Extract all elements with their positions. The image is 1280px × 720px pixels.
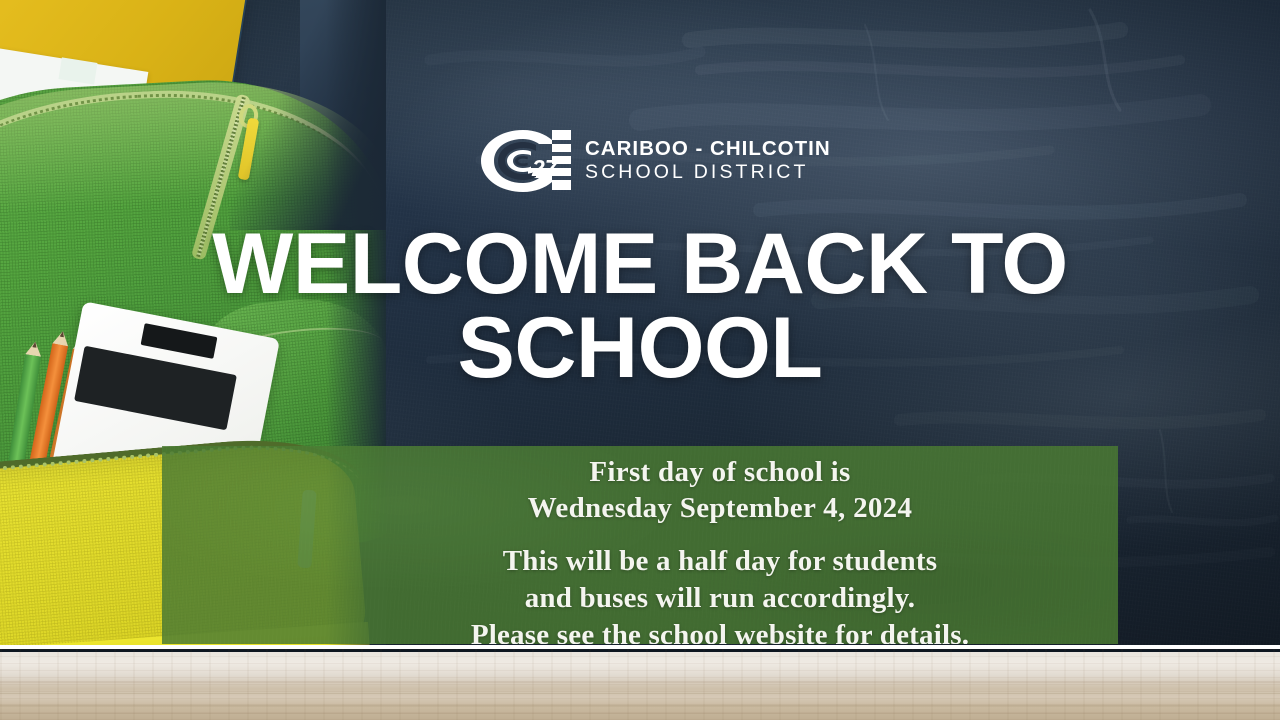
logo-line-cariboo-chilcotin: CARIBOO - CHILCOTIN [585,138,831,160]
first-day-announcement: First day of school is Wednesday Septemb… [528,454,913,527]
wood-streak [0,713,1280,714]
page-title: WELCOME BACK TO SCHOOL [0,222,1280,391]
announcement-text-block: First day of school is Wednesday Septemb… [322,446,1118,644]
wood-grain [0,649,1280,720]
svg-text:27: 27 [531,155,559,181]
headline-line-2: SCHOOL [0,306,1280,390]
first-day-line-1: First day of school is [528,454,913,490]
wood-streak [0,681,1280,683]
note-line-3: Please see the school website for detail… [471,617,969,644]
school-district-logo: 27 CARIBOO - CHILCOTIN SCHOOL DISTRICT [479,128,831,194]
note-line-1: This will be a half day for students [471,543,969,580]
logo-line-school-district: SCHOOL DISTRICT [585,161,831,184]
wood-streak [0,693,1280,694]
first-day-line-2: Wednesday September 4, 2024 [528,490,913,526]
announcement-banner: First day of school is Wednesday Septemb… [162,446,1118,644]
half-day-note: This will be a half day for students and… [471,543,969,645]
note-line-2: and buses will run accordingly. [471,580,969,617]
wooden-table-surface [0,649,1280,720]
logo-wordmark: CARIBOO - CHILCOTIN SCHOOL DISTRICT [585,138,831,183]
welcome-back-to-school-poster: AC CUT [0,0,1280,720]
sd27-logo-mark-icon: 27 [479,128,575,194]
wood-streak [0,704,1280,707]
headline-line-1: WELCOME BACK TO [212,216,1068,312]
